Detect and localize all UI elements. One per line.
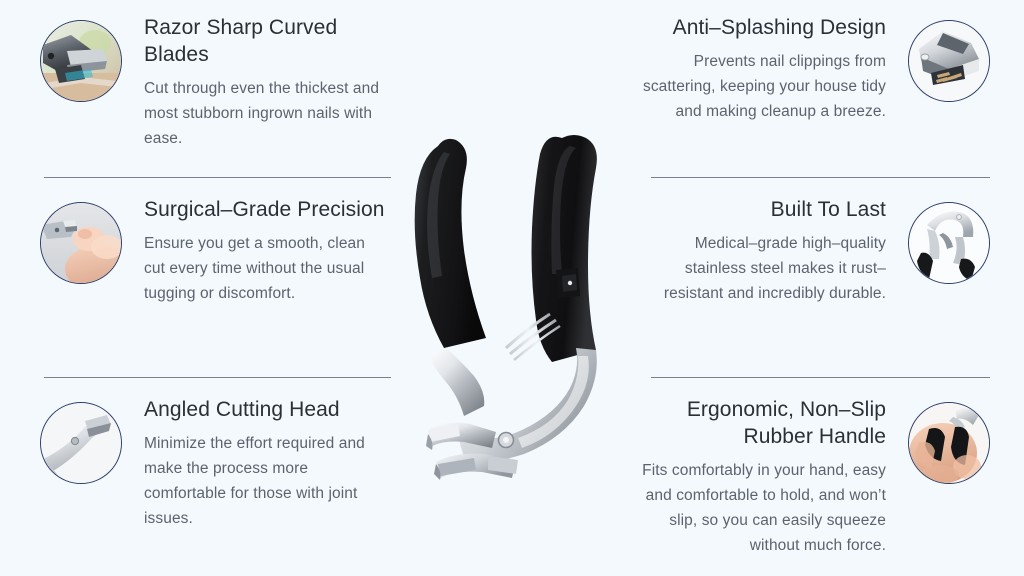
- product-image: [400, 110, 650, 490]
- feature-text: Razor Sharp Curved Blades Cut through ev…: [144, 14, 390, 151]
- feature-item-surgical-grade-precision: Surgical–Grade Precision Ensure you get …: [40, 196, 390, 306]
- feature-item-built-to-last: Built To Last Medical–grade high–quality…: [634, 196, 990, 306]
- feature-description: Cut through even the thickest and most s…: [144, 76, 390, 151]
- feature-description: Prevents nail clippings from scattering,…: [634, 49, 886, 124]
- divider-right-1: [651, 177, 990, 178]
- feature-title: Anti–Splashing Design: [634, 14, 886, 41]
- thumbnail-art: [909, 403, 989, 483]
- angled-head-closeup-icon: [40, 402, 122, 484]
- thumbnail-art: [909, 21, 989, 101]
- thumbnail-art: [41, 21, 121, 101]
- feature-title: Surgical–Grade Precision: [144, 196, 390, 223]
- feature-item-ergonomic-non-slip-rubber-handle: Ergonomic, Non–Slip Rubber Handle Fits c…: [634, 396, 990, 558]
- product-feature-infographic: Razor Sharp Curved Blades Cut through ev…: [0, 0, 1024, 576]
- feature-title: Ergonomic, Non–Slip Rubber Handle: [634, 396, 886, 450]
- clipper-on-finger-icon: [40, 202, 122, 284]
- thumbnail-art: [41, 203, 121, 283]
- feature-description: Fits comfortably in your hand, easy and …: [634, 458, 886, 558]
- divider-right-2: [651, 377, 990, 378]
- divider-left-1: [44, 177, 391, 178]
- feature-title: Angled Cutting Head: [144, 396, 390, 423]
- hand-gripping-clipper-icon: [908, 402, 990, 484]
- feature-item-razor-sharp-curved-blades: Razor Sharp Curved Blades Cut through ev…: [40, 14, 390, 151]
- feature-text: Built To Last Medical–grade high–quality…: [634, 196, 886, 306]
- feature-title: Razor Sharp Curved Blades: [144, 14, 390, 68]
- feature-description: Ensure you get a smooth, clean cut every…: [144, 231, 390, 306]
- feature-text: Angled Cutting Head Minimize the effort …: [144, 396, 390, 531]
- feature-text: Anti–Splashing Design Prevents nail clip…: [634, 14, 886, 124]
- feature-description: Medical–grade high–quality stainless ste…: [634, 231, 886, 306]
- clippings-catcher-icon: [908, 20, 990, 102]
- features-column-right: Anti–Splashing Design Prevents nail clip…: [634, 0, 990, 576]
- feature-text: Surgical–Grade Precision Ensure you get …: [144, 196, 390, 306]
- thumbnail-art: [41, 403, 121, 483]
- feature-description: Minimize the effort required and make th…: [144, 431, 390, 531]
- features-column-left: Razor Sharp Curved Blades Cut through ev…: [40, 0, 390, 576]
- feature-item-angled-cutting-head: Angled Cutting Head Minimize the effort …: [40, 396, 390, 531]
- thumbnail-art: [909, 203, 989, 283]
- clipper-cutting-nail-icon: [40, 20, 122, 102]
- stainless-steel-body-icon: [908, 202, 990, 284]
- feature-text: Ergonomic, Non–Slip Rubber Handle Fits c…: [634, 396, 886, 558]
- divider-left-2: [44, 377, 391, 378]
- feature-item-anti-splashing-design: Anti–Splashing Design Prevents nail clip…: [634, 14, 990, 124]
- feature-title: Built To Last: [634, 196, 886, 223]
